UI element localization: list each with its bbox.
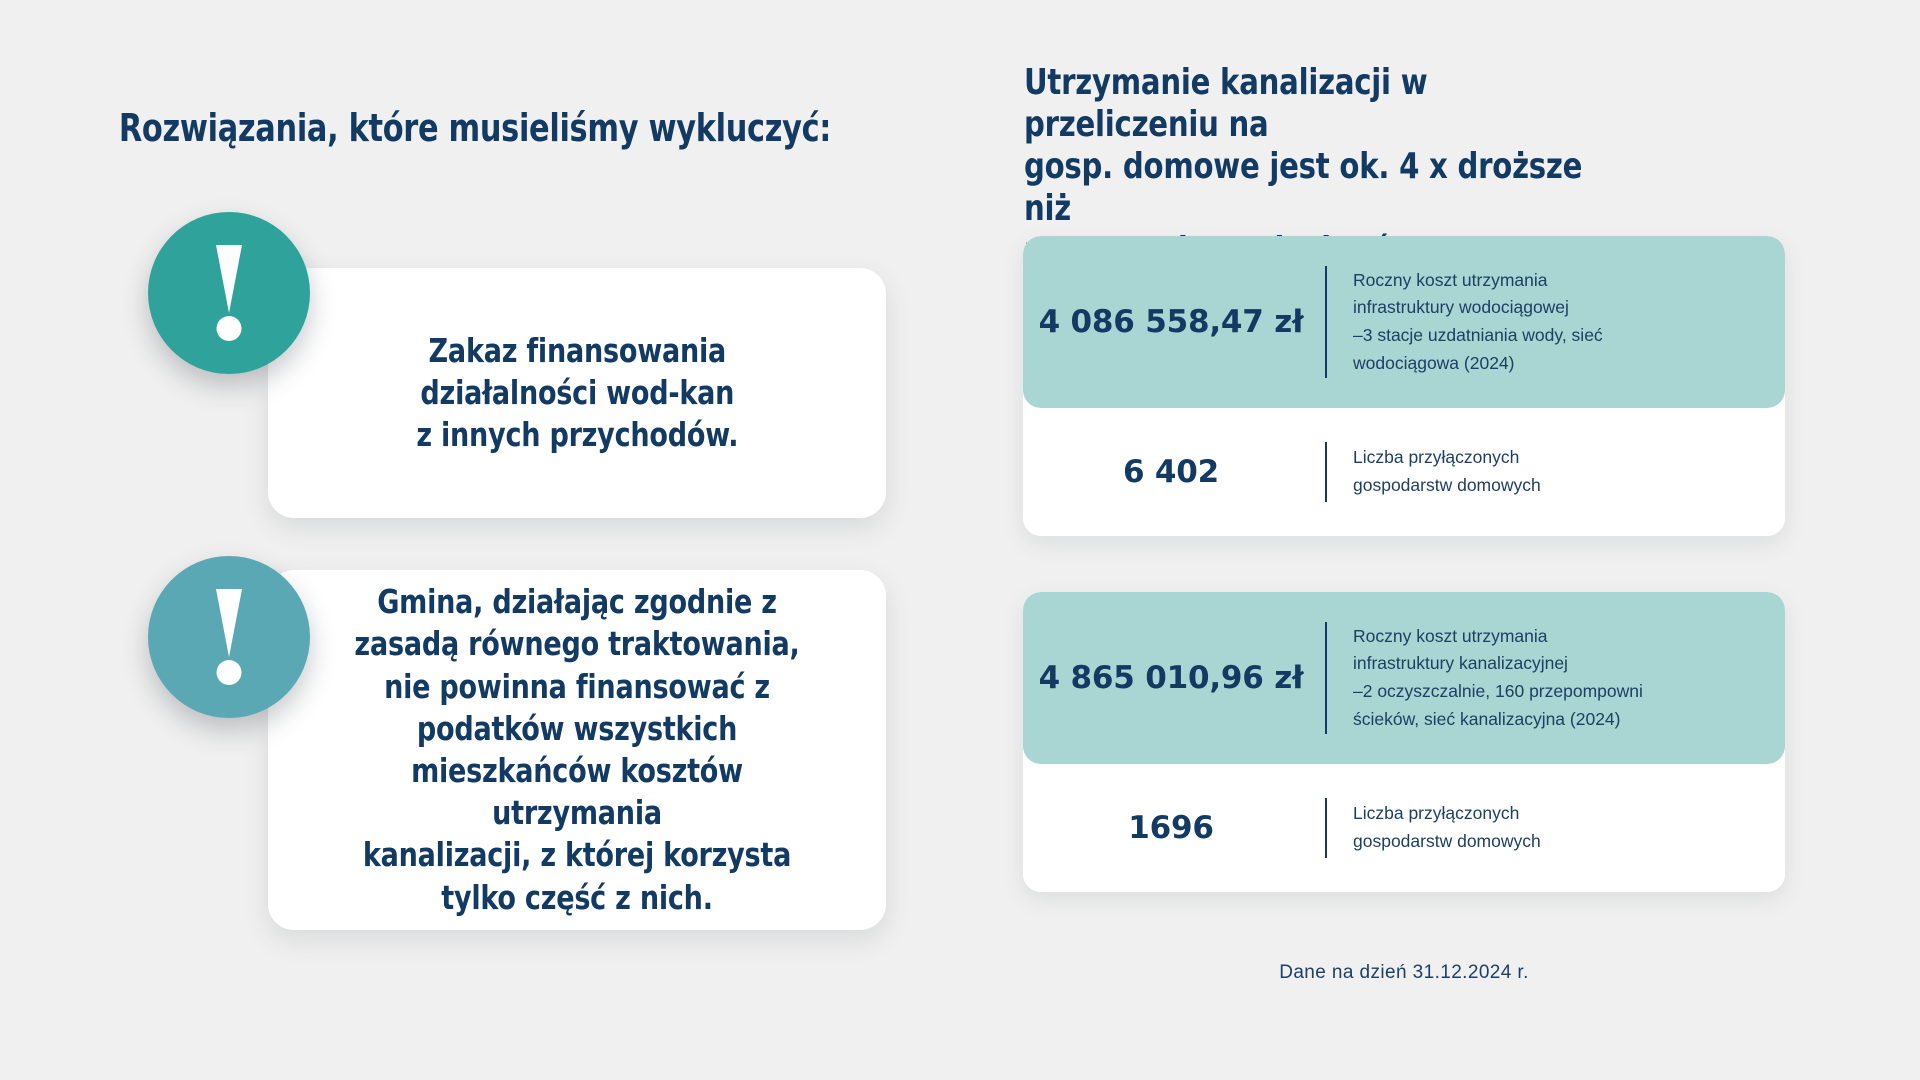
exclamation-mark-glyph bbox=[216, 245, 242, 341]
excluded-solution-text-2: Gmina, działając zgodnie z zasadą równeg… bbox=[324, 581, 831, 919]
stat-value: 4 086 558,47 zł bbox=[1023, 304, 1325, 340]
stat-value: 6 402 bbox=[1023, 454, 1325, 490]
stat-group-sewage: 4 865 010,96 zł Roczny koszt utrzymania … bbox=[1023, 592, 1785, 892]
left-column: Rozwiązania, które musieliśmy wykluczyć:… bbox=[0, 0, 1010, 1080]
stat-description: Roczny koszt utrzymania infrastruktury k… bbox=[1327, 623, 1785, 734]
stat-description: Roczny koszt utrzymania infrastruktury w… bbox=[1327, 267, 1785, 378]
stat-value: 4 865 010,96 zł bbox=[1023, 660, 1325, 696]
stat-row-sewage-cost: 4 865 010,96 zł Roczny koszt utrzymania … bbox=[1023, 592, 1785, 764]
slide-canvas: Rozwiązania, które musieliśmy wykluczyć:… bbox=[0, 0, 1920, 1080]
exclamation-icon-1 bbox=[148, 212, 310, 374]
exclamation-bar bbox=[216, 245, 242, 313]
exclamation-icon-2 bbox=[148, 556, 310, 718]
stat-row-water-cost: 4 086 558,47 zł Roczny koszt utrzymania … bbox=[1023, 236, 1785, 408]
exclamation-dot bbox=[217, 660, 242, 685]
left-column-title: Rozwiązania, które musieliśmy wykluczyć: bbox=[95, 108, 855, 150]
stat-row-water-households: 6 402 Liczba przyłączonych gospodarstw d… bbox=[1023, 408, 1785, 536]
stat-value: 1696 bbox=[1023, 810, 1325, 846]
exclamation-dot bbox=[217, 316, 242, 341]
excluded-solution-card-1: Zakaz finansowania działalności wod-kan … bbox=[268, 268, 886, 518]
exclamation-mark-glyph bbox=[216, 589, 242, 685]
excluded-solution-text-1: Zakaz finansowania działalności wod-kan … bbox=[416, 330, 738, 457]
stat-description: Liczba przyłączonych gospodarstw domowyc… bbox=[1327, 444, 1785, 499]
exclamation-bar bbox=[216, 589, 242, 657]
stat-description: Liczba przyłączonych gospodarstw domowyc… bbox=[1327, 800, 1785, 855]
stat-row-sewage-households: 1696 Liczba przyłączonych gospodarstw do… bbox=[1023, 764, 1785, 892]
excluded-solution-card-2: Gmina, działając zgodnie z zasadą równeg… bbox=[268, 570, 886, 930]
right-column: Utrzymanie kanalizacji w przeliczeniu na… bbox=[1020, 0, 1920, 1080]
stat-group-water: 4 086 558,47 zł Roczny koszt utrzymania … bbox=[1023, 236, 1785, 536]
data-as-of-footnote: Dane na dzień 31.12.2024 r. bbox=[1023, 962, 1785, 984]
